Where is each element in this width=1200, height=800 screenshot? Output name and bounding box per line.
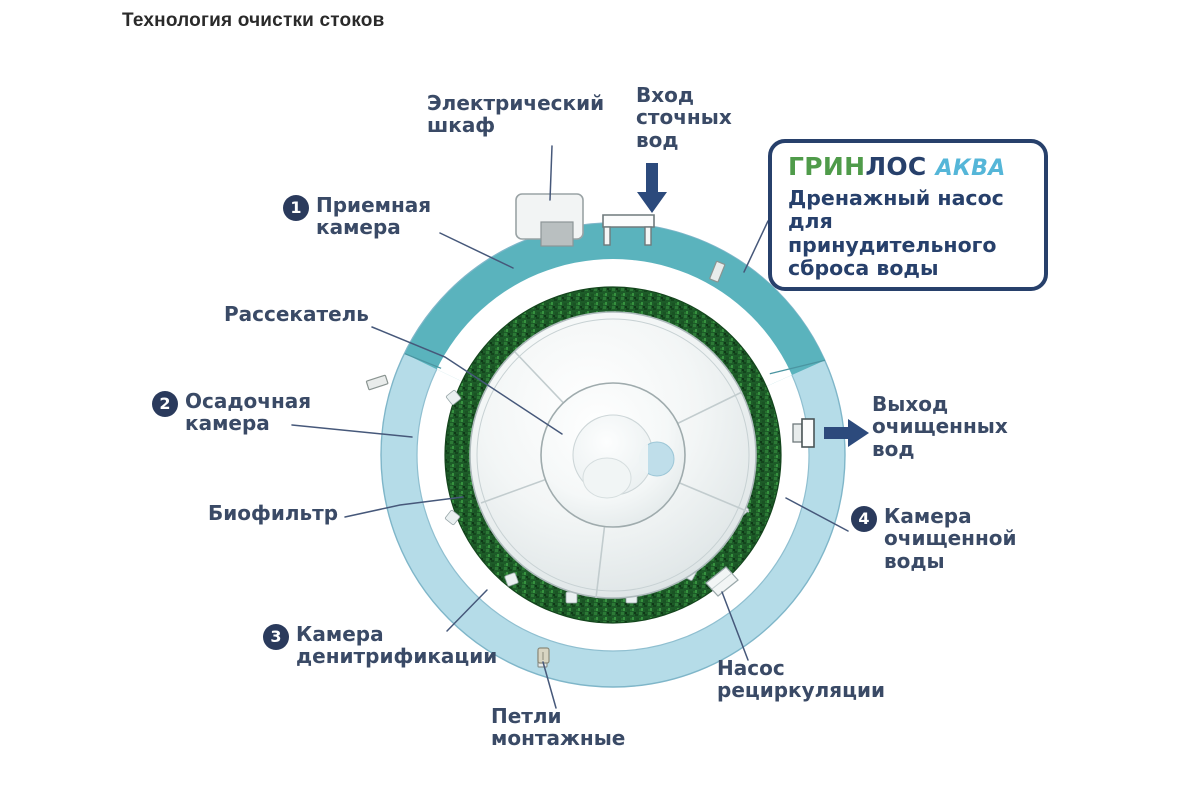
logo-wordmark: ГРИНЛОСАКВА: [788, 154, 1030, 180]
badge-3: 3: [263, 624, 289, 650]
callout-1-text: Приемная камера: [316, 194, 431, 239]
inlet-arrow-icon: [637, 163, 667, 213]
product-logo-card: ГРИНЛОСАКВА Дренажный насос для принудит…: [768, 139, 1048, 291]
label-clean-water-outlet: Выход очищенных вод: [872, 393, 1008, 460]
logo-word-los: ЛОС: [865, 152, 926, 181]
callout-2-text: Осадочная камера: [185, 390, 311, 435]
badge-1: 1: [283, 195, 309, 221]
label-biofilter: Биофильтр: [208, 502, 338, 524]
callout-3: 3 Камера денитрификации: [263, 623, 497, 668]
logo-subtitle: Дренажный насос для принудительного сбро…: [788, 187, 1030, 280]
callout-1: 1 Приемная камера: [283, 194, 431, 239]
badge-4: 4: [851, 506, 877, 532]
logo-word-aqua: АКВА: [936, 156, 1006, 181]
label-wastewater-inlet: Вход сточных вод: [636, 84, 732, 151]
label-electrical-cabinet: Электрический шкаф: [427, 92, 604, 137]
callout-2: 2 Осадочная камера: [152, 390, 311, 435]
central-dome: [470, 312, 756, 598]
label-mounting-loops: Петли монтажные: [491, 705, 625, 750]
label-recirculation-pump: Насос рециркуляции: [717, 657, 885, 702]
label-distributor: Рассекатель: [224, 303, 369, 325]
callout-4: 4 Камера очищенной воды: [851, 505, 1017, 572]
logo-word-grin: ГРИН: [788, 152, 865, 181]
mounting-loop: [538, 648, 549, 663]
callout-3-text: Камера денитрификации: [296, 623, 497, 668]
electrical-cabinet: [516, 194, 583, 246]
callout-4-text: Камера очищенной воды: [884, 505, 1017, 572]
badge-2: 2: [152, 391, 178, 417]
